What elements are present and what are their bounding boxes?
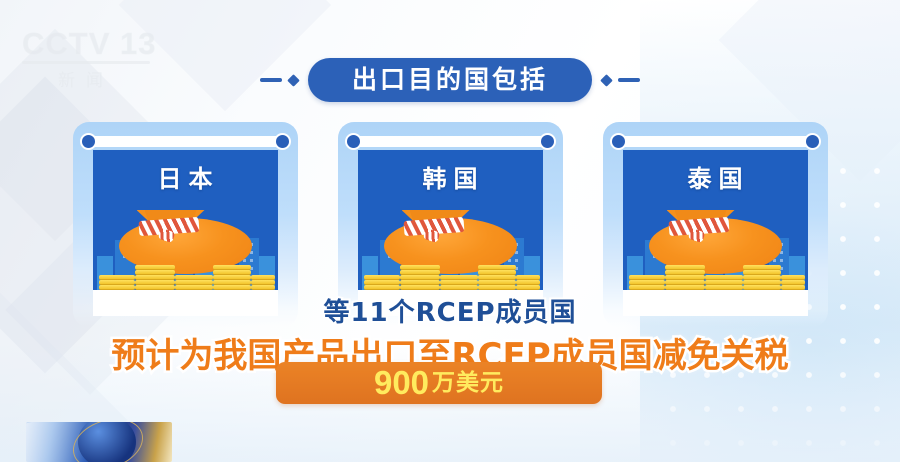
diamond-icon xyxy=(600,74,613,87)
card-connector-bar xyxy=(349,136,552,147)
lower-third-graphic xyxy=(26,422,172,462)
card-connector-bar xyxy=(84,136,287,147)
connector-dot-icon xyxy=(274,133,291,150)
ornament-right-icon xyxy=(602,76,640,85)
connector-dot-icon xyxy=(539,133,556,150)
card-connector-bar xyxy=(614,136,817,147)
page-title: 出口目的国包括 xyxy=(352,65,548,95)
country-name-label: 泰国 xyxy=(623,159,808,194)
title-banner: 出口目的国包括 xyxy=(0,58,900,102)
dash-icon xyxy=(618,78,640,82)
title-pill: 出口目的国包括 xyxy=(308,58,592,102)
ornament-left-icon xyxy=(260,76,298,85)
gold-coin-stacks xyxy=(623,260,808,290)
gold-coin-stacks xyxy=(358,260,543,290)
amount-unit: 万美元 xyxy=(432,370,504,396)
card-illustration-panel: 韩国 xyxy=(358,150,543,290)
amount-highlight-bar: 900 万美元 xyxy=(276,362,602,404)
connector-dot-icon xyxy=(610,133,627,150)
connector-dot-icon xyxy=(345,133,362,150)
connector-dot-icon xyxy=(804,133,821,150)
broadcast-frame: CCTV 13 新闻 出口目的国包括 日本 xyxy=(0,0,900,462)
amount-value: 900 xyxy=(374,366,429,400)
card-illustration-panel: 日本 xyxy=(93,150,278,290)
country-name-label: 日本 xyxy=(93,159,278,194)
subline-caption: 等11个RCEP成员国 xyxy=(0,292,900,329)
channel-logo-text: CCTV 13 xyxy=(22,28,172,60)
connector-dot-icon xyxy=(80,133,97,150)
diamond-icon xyxy=(287,74,300,87)
gold-coin-stacks xyxy=(93,260,278,290)
dash-icon xyxy=(260,78,282,82)
card-illustration-panel: 泰国 xyxy=(623,150,808,290)
country-name-label: 韩国 xyxy=(358,159,543,194)
